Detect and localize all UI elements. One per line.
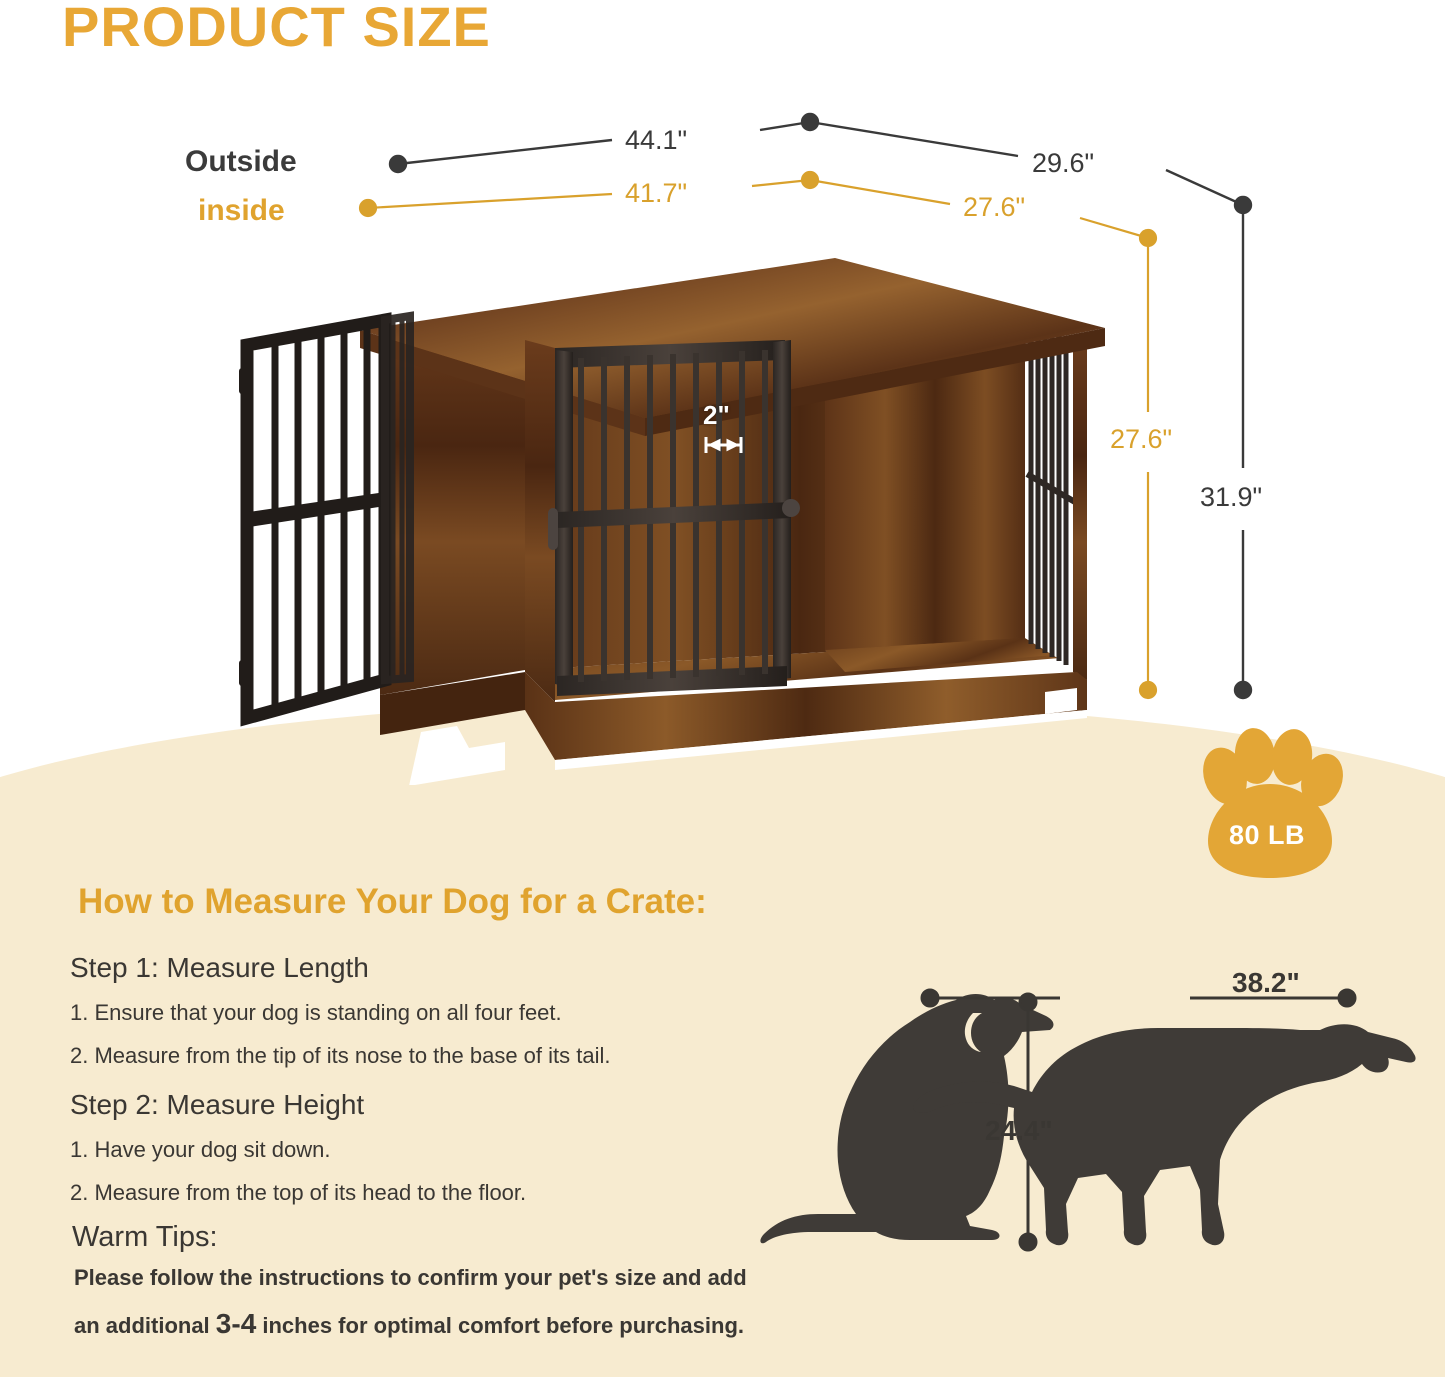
step-1-line-1: 1. Ensure that your dog is standing on a…: [70, 1000, 562, 1026]
warm-tips-line-1: Please follow the instructions to confir…: [74, 1265, 747, 1291]
measure-section-heading: How to Measure Your Dog for a Crate:: [78, 882, 707, 922]
step-1-title: Step 1: Measure Length: [70, 952, 369, 984]
weight-capacity-label: 80 LB: [1182, 820, 1352, 851]
step-2-line-1: 1. Have your dog sit down.: [70, 1137, 330, 1163]
step-2-line-2: 2. Measure from the top of its head to t…: [70, 1180, 526, 1206]
dog-measurement-diagram: [760, 960, 1445, 1300]
dog-height-dimension-label: 24.4": [985, 1115, 1053, 1147]
step-1-line-2: 2. Measure from the tip of its nose to t…: [70, 1043, 611, 1069]
dimension-outside-depth: 29.6": [1032, 148, 1094, 179]
dog-length-dimension-label: 38.2": [1232, 967, 1300, 999]
dimension-inside-height: 27.6": [1110, 424, 1172, 455]
paw-print-icon: [1182, 728, 1352, 878]
dimension-outside-width: 44.1": [625, 125, 687, 156]
warm-tips-line-2-post: inches for optimal comfort before purcha…: [256, 1313, 744, 1338]
dimension-inside-depth: 27.6": [963, 192, 1025, 223]
warm-tips-line-2: an additional 3-4 inches for optimal com…: [74, 1308, 744, 1340]
warm-tips-inches-emphasis: 3-4: [216, 1308, 256, 1339]
bar-spacing-label: 2": [703, 400, 730, 431]
dimension-outside-height: 31.9": [1200, 482, 1262, 513]
step-2-title: Step 2: Measure Height: [70, 1089, 364, 1121]
warm-tips-title: Warm Tips:: [72, 1221, 218, 1254]
dimension-inside-width: 41.7": [625, 178, 687, 209]
dog-crate-furniture-illustration: [225, 240, 1115, 785]
warm-tips-line-2-pre: an additional: [74, 1313, 216, 1338]
